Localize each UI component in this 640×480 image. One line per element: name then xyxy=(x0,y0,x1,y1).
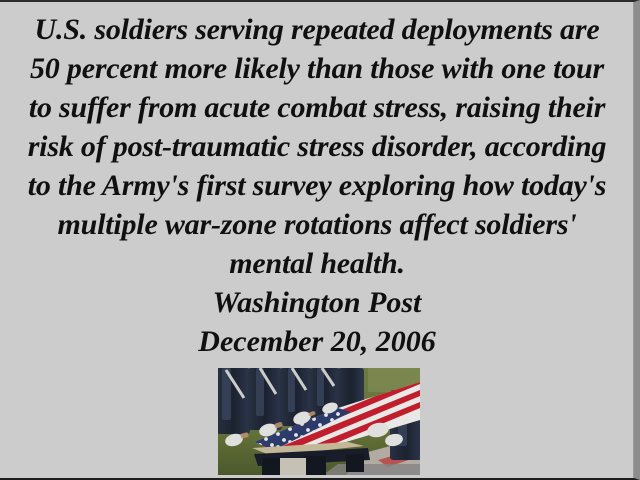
quote-line-5: to the Army's first survey exploring how… xyxy=(0,166,634,205)
quote-line-3: to suffer from acute combat stress, rais… xyxy=(0,88,634,127)
quote-line-6: multiple war-zone rotations affect soldi… xyxy=(0,205,634,244)
quote-line-4: risk of post-traumatic stress disorder, … xyxy=(0,127,634,166)
quote-line-1: U.S. soldiers serving repeated deploymen… xyxy=(0,10,634,49)
photo-illustration xyxy=(218,368,420,475)
quote-line-2: 50 percent more likely than those with o… xyxy=(0,49,634,88)
attribution-block: Washington Post December 20, 2006 xyxy=(0,283,634,361)
attribution-date: December 20, 2006 xyxy=(0,322,634,361)
honor-guard-flag-photo xyxy=(218,368,420,475)
attribution-source: Washington Post xyxy=(0,283,634,322)
quote-line-7: mental health. xyxy=(0,244,634,283)
quote-block: U.S. soldiers serving repeated deploymen… xyxy=(0,10,634,283)
presentation-slide: U.S. soldiers serving repeated deploymen… xyxy=(0,0,640,480)
